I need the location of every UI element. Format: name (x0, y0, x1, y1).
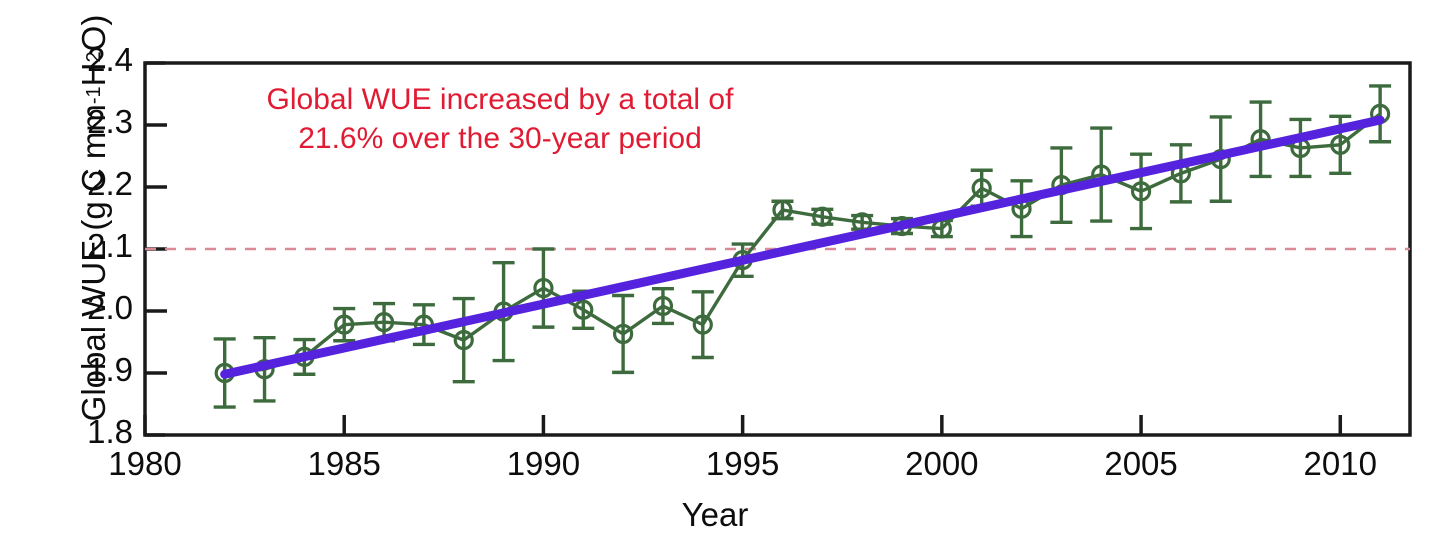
trend-line (225, 120, 1380, 374)
x-axis-ticks (145, 415, 1340, 435)
annotation-line-2: 21.6% over the 30-year period (190, 119, 810, 158)
wue-trend-chart: Global WUE (g C mm-1 H2O) Year 1.81.92.0… (0, 0, 1430, 549)
annotation-line-1: Global WUE increased by a total of (190, 80, 810, 119)
annotation-text: Global WUE increased by a total of 21.6%… (190, 80, 810, 158)
